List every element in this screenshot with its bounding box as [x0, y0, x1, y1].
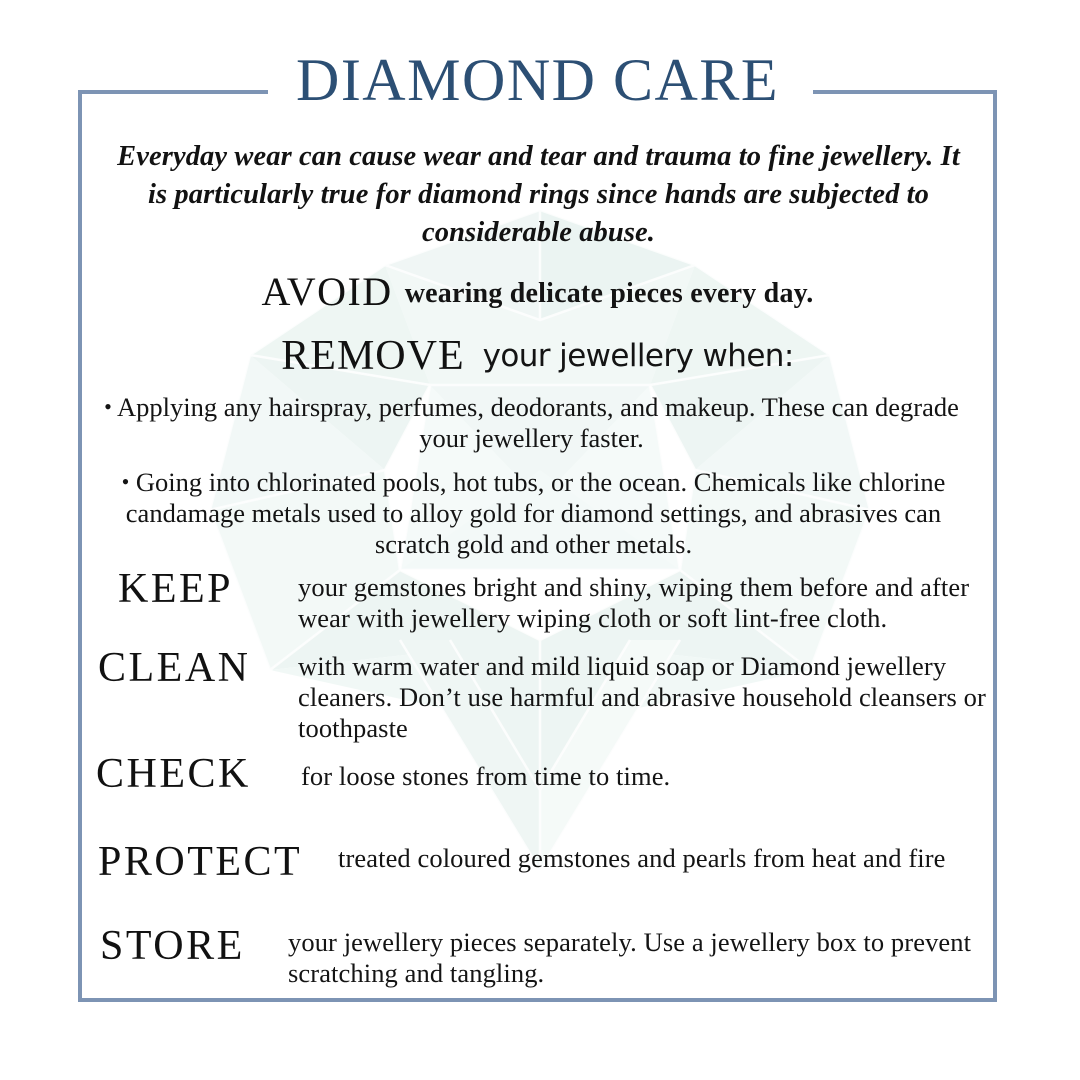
list-item: • Applying any hairspray, perfumes, deod… [78, 392, 997, 454]
list-item-text: Going into chlorinated pools, hot tubs, … [126, 467, 946, 559]
step-keyword: CLEAN [98, 647, 251, 689]
diamond-care-poster: DIAMOND CARE Everyday wear can cause wea… [0, 0, 1080, 1080]
page-title: DIAMOND CARE [78, 50, 997, 110]
list-item-text: Applying any hairspray, perfumes, deodor… [117, 392, 959, 453]
remove-text: your jewellery when: [483, 338, 794, 374]
step-keyword: PROTECT [98, 841, 302, 883]
bullet-icon: • [122, 469, 130, 494]
remove-row: REMOVE your jewellery when: [78, 332, 997, 380]
step-text: with warm water and mild liquid soap or … [298, 651, 1010, 744]
avoid-row: AVOID wearing delicate pieces every day. [78, 268, 997, 315]
avoid-text: wearing delicate pieces every day. [405, 278, 814, 309]
poster-content: DIAMOND CARE Everyday wear can cause wea… [78, 90, 997, 1002]
step-keyword: CHECK [96, 753, 251, 795]
list-item: • Going into chlorinated pools, hot tubs… [78, 467, 997, 560]
avoid-keyword: AVOID [261, 269, 392, 314]
step-keyword: KEEP [118, 568, 233, 610]
step-text: your gemstones bright and shiny, wiping … [298, 572, 1010, 634]
remove-keyword: REMOVE [281, 333, 464, 379]
step-text: treated coloured gemstones and pearls fr… [338, 843, 998, 874]
step-text: for loose stones from time to time. [301, 761, 1001, 792]
intro-paragraph: Everyday wear can cause wear and tear an… [116, 138, 961, 252]
step-keyword: STORE [100, 925, 245, 967]
remove-bullet-list: • Applying any hairspray, perfumes, deod… [78, 392, 997, 560]
step-text: your jewellery pieces separately. Use a … [288, 927, 988, 989]
bullet-icon: • [104, 394, 112, 419]
